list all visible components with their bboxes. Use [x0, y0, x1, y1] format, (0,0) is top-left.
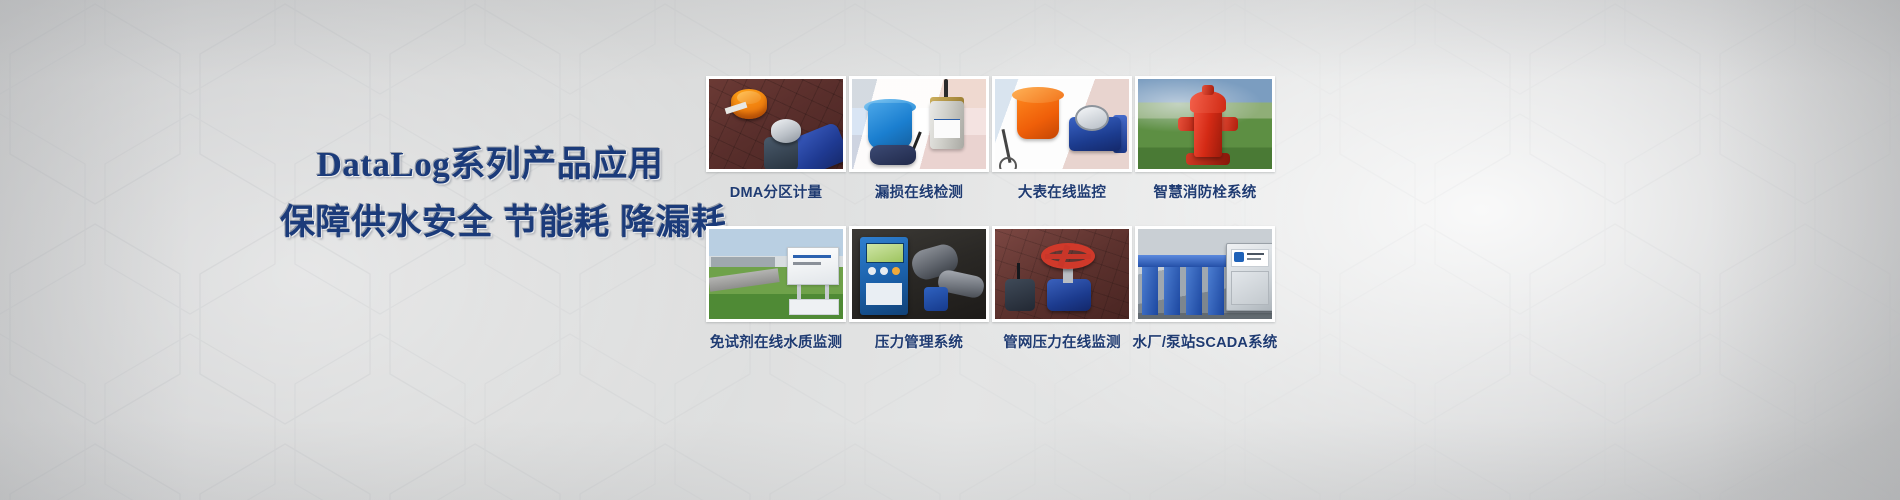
product-card-scada[interactable]: 水厂/泵站SCADA系统 — [1135, 226, 1275, 352]
product-card-dma-metering[interactable]: DMA分区计量 — [706, 76, 846, 202]
product-card-water-quality[interactable]: 免试剂在线水质监测 — [706, 226, 846, 352]
product-application-grid: DMA分区计量 漏损在线检测 — [706, 76, 1275, 352]
product-card-smart-hydrant[interactable]: 智慧消防栓系统 — [1135, 76, 1275, 202]
smart-hydrant-photo[interactable] — [1135, 76, 1275, 172]
product-caption: 免试剂在线水质监测 — [710, 331, 842, 352]
product-card-large-meter[interactable]: 大表在线监控 — [992, 76, 1132, 202]
headline-block: DataLog系列产品应用 保障供水安全 节能耗 降漏耗 — [280, 142, 700, 246]
headline-secondary: 保障供水安全 节能耗 降漏耗 — [280, 200, 700, 246]
product-caption: DMA分区计量 — [730, 181, 822, 202]
product-caption: 水厂/泵站SCADA系统 — [1133, 331, 1278, 352]
pipeline-pressure-photo[interactable] — [992, 226, 1132, 322]
headline-primary: DataLog系列产品应用 — [280, 142, 700, 188]
large-meter-monitoring-photo[interactable] — [992, 76, 1132, 172]
promotional-banner: DataLog系列产品应用 保障供水安全 节能耗 降漏耗 DMA分区计量 — [0, 0, 1900, 500]
product-caption: 管网压力在线监测 — [1003, 331, 1121, 352]
product-card-leak-detection[interactable]: 漏损在线检测 — [849, 76, 989, 202]
product-card-pipeline-pressure[interactable]: 管网压力在线监测 — [992, 226, 1132, 352]
water-quality-station-photo[interactable] — [706, 226, 846, 322]
product-caption: 智慧消防栓系统 — [1154, 181, 1257, 202]
pressure-management-photo[interactable] — [849, 226, 989, 322]
dma-metering-photo[interactable] — [706, 76, 846, 172]
scada-system-photo[interactable] — [1135, 226, 1275, 322]
leak-detection-photo[interactable] — [849, 76, 989, 172]
product-caption: 漏损在线检测 — [875, 181, 963, 202]
product-caption: 大表在线监控 — [1018, 181, 1106, 202]
product-card-pressure-management[interactable]: 压力管理系统 — [849, 226, 989, 352]
product-caption: 压力管理系统 — [875, 331, 963, 352]
